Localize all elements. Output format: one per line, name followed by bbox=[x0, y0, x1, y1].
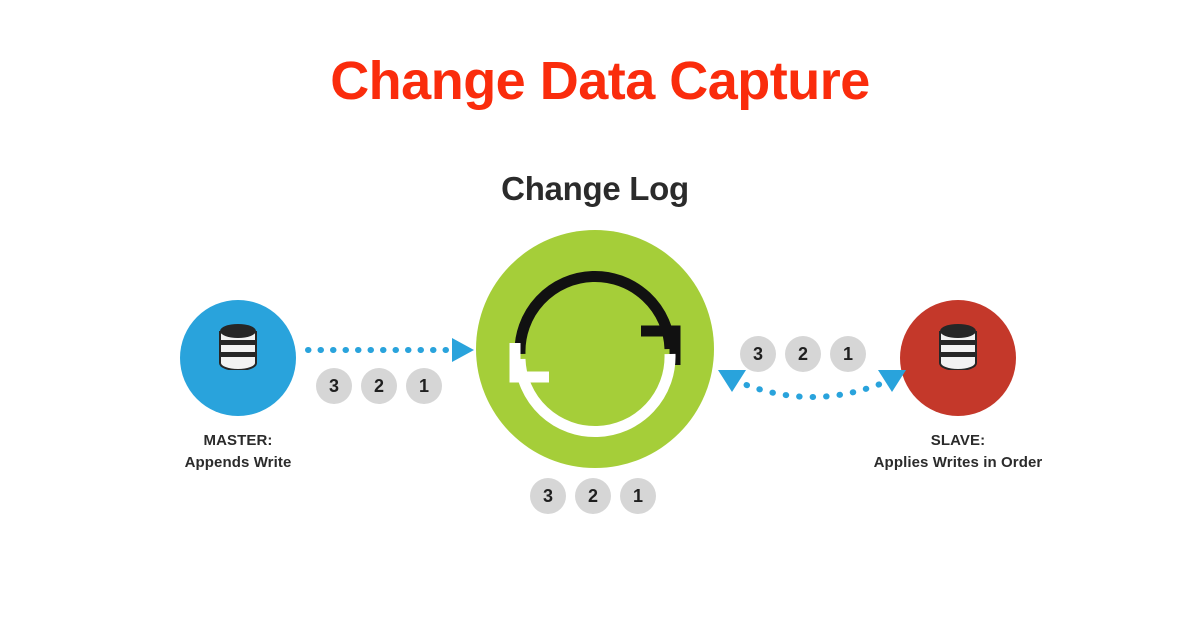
badge: 2 bbox=[785, 336, 821, 372]
badge: 2 bbox=[361, 368, 397, 404]
badge: 3 bbox=[530, 478, 566, 514]
badge: 1 bbox=[620, 478, 656, 514]
master-caption-line-2: Appends Write bbox=[138, 452, 338, 474]
badge: 1 bbox=[830, 336, 866, 372]
database-icon bbox=[939, 324, 977, 370]
changelog-heading: Change Log bbox=[395, 170, 795, 208]
badge: 3 bbox=[316, 368, 352, 404]
flow-arrow-master-to-changelog bbox=[300, 330, 476, 370]
slave-caption-line-1: SLAVE: bbox=[838, 430, 1078, 452]
badge-row-changelog: 3 2 1 bbox=[530, 478, 656, 514]
diagram-canvas: Change Data Capture Change Log bbox=[0, 0, 1200, 630]
badge: 2 bbox=[575, 478, 611, 514]
page-title: Change Data Capture bbox=[0, 52, 1200, 111]
master-caption: MASTER: Appends Write bbox=[138, 430, 338, 474]
flow-arrow-changelog-to-slave bbox=[716, 368, 908, 416]
slave-caption: SLAVE: Applies Writes in Order bbox=[838, 430, 1078, 474]
refresh-cycle-icon bbox=[476, 230, 714, 468]
badge: 1 bbox=[406, 368, 442, 404]
badge-row-slave: 3 2 1 bbox=[740, 336, 866, 372]
master-caption-line-1: MASTER: bbox=[138, 430, 338, 452]
badge-row-master: 3 2 1 bbox=[316, 368, 442, 404]
slave-caption-line-2: Applies Writes in Order bbox=[838, 452, 1078, 474]
badge: 3 bbox=[740, 336, 776, 372]
database-icon bbox=[219, 324, 257, 370]
